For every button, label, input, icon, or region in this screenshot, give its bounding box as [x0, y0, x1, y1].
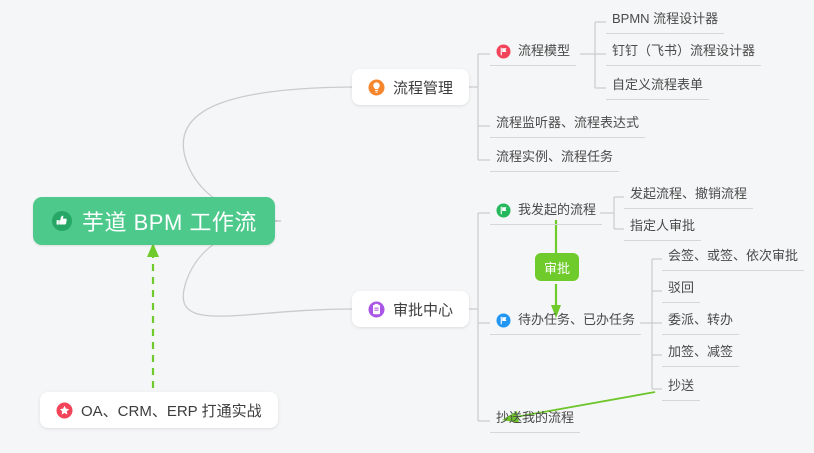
lightbulb-icon [368, 79, 385, 96]
leaf-label: 自定义流程表单 [612, 76, 703, 94]
leaf-bpmn-designer[interactable]: BPMN 流程设计器 [606, 10, 724, 34]
branch-label: 审批中心 [393, 299, 453, 320]
approval-tag: 审批 [535, 253, 579, 281]
root-label: 芋道 BPM 工作流 [82, 205, 257, 237]
flag-icon [496, 44, 511, 59]
leaf-label: 钉钉（飞书）流程设计器 [612, 42, 755, 60]
leaf-label: 驳回 [668, 279, 694, 297]
leaf-process-listener-expression[interactable]: 流程监听器、流程表达式 [490, 114, 645, 138]
thumbs-up-icon [51, 210, 73, 232]
note-node-integration[interactable]: OA、CRM、ERP 打通实战 [40, 392, 278, 428]
note-node-label: OA、CRM、ERP 打通实战 [81, 400, 262, 421]
leaf-process-instance-task[interactable]: 流程实例、流程任务 [490, 148, 619, 172]
flag-icon [496, 313, 511, 328]
branch-node-approval-center[interactable]: 审批中心 [352, 291, 469, 327]
leaf-label: 指定人审批 [630, 217, 695, 235]
leaf-dingtalk-feishu-designer[interactable]: 钉钉（飞书）流程设计器 [606, 42, 761, 66]
branch-node-process-management[interactable]: 流程管理 [352, 69, 469, 105]
node-label: 我发起的流程 [518, 201, 596, 219]
node-label: 待办任务、已办任务 [518, 311, 635, 329]
leaf-label: 抄送我的流程 [496, 409, 574, 427]
node-todo-done-tasks[interactable]: 待办任务、已办任务 [490, 311, 641, 335]
leaf-countersign-orsign-sequential[interactable]: 会签、或签、依次审批 [662, 247, 804, 271]
leaf-label: 会签、或签、依次审批 [668, 247, 798, 265]
leaf-reject[interactable]: 驳回 [662, 279, 700, 303]
leaf-delegate-transfer[interactable]: 委派、转办 [662, 311, 739, 335]
approval-tag-label: 审批 [544, 258, 570, 277]
leaf-label: BPMN 流程设计器 [612, 10, 718, 28]
leaf-custom-form[interactable]: 自定义流程表单 [606, 76, 709, 100]
leaf-assigned-approval[interactable]: 指定人审批 [624, 217, 701, 241]
leaf-cc-to-me-process[interactable]: 抄送我的流程 [490, 409, 580, 433]
node-my-initiated-process[interactable]: 我发起的流程 [490, 201, 602, 225]
leaf-cc[interactable]: 抄送 [662, 377, 700, 401]
branch-label: 流程管理 [393, 77, 453, 98]
leaf-start-cancel-process[interactable]: 发起流程、撤销流程 [624, 185, 753, 209]
leaf-label: 委派、转办 [668, 311, 733, 329]
leaf-add-remove-sign[interactable]: 加签、减签 [662, 343, 739, 367]
flag-icon [496, 203, 511, 218]
root-node[interactable]: 芋道 BPM 工作流 [33, 197, 275, 245]
star-icon [56, 402, 73, 419]
leaf-label: 发起流程、撤销流程 [630, 185, 747, 203]
leaf-label: 流程监听器、流程表达式 [496, 114, 639, 132]
leaf-label: 抄送 [668, 377, 694, 395]
node-process-model[interactable]: 流程模型 [490, 42, 576, 66]
mindmap-canvas: 芋道 BPM 工作流 流程管理 流程模型 BPMN 流程设计器 钉钉（飞书）流程 [0, 0, 814, 453]
leaf-label: 流程实例、流程任务 [496, 148, 613, 166]
clipboard-icon [368, 301, 385, 318]
node-label: 流程模型 [518, 42, 570, 60]
leaf-label: 加签、减签 [668, 343, 733, 361]
